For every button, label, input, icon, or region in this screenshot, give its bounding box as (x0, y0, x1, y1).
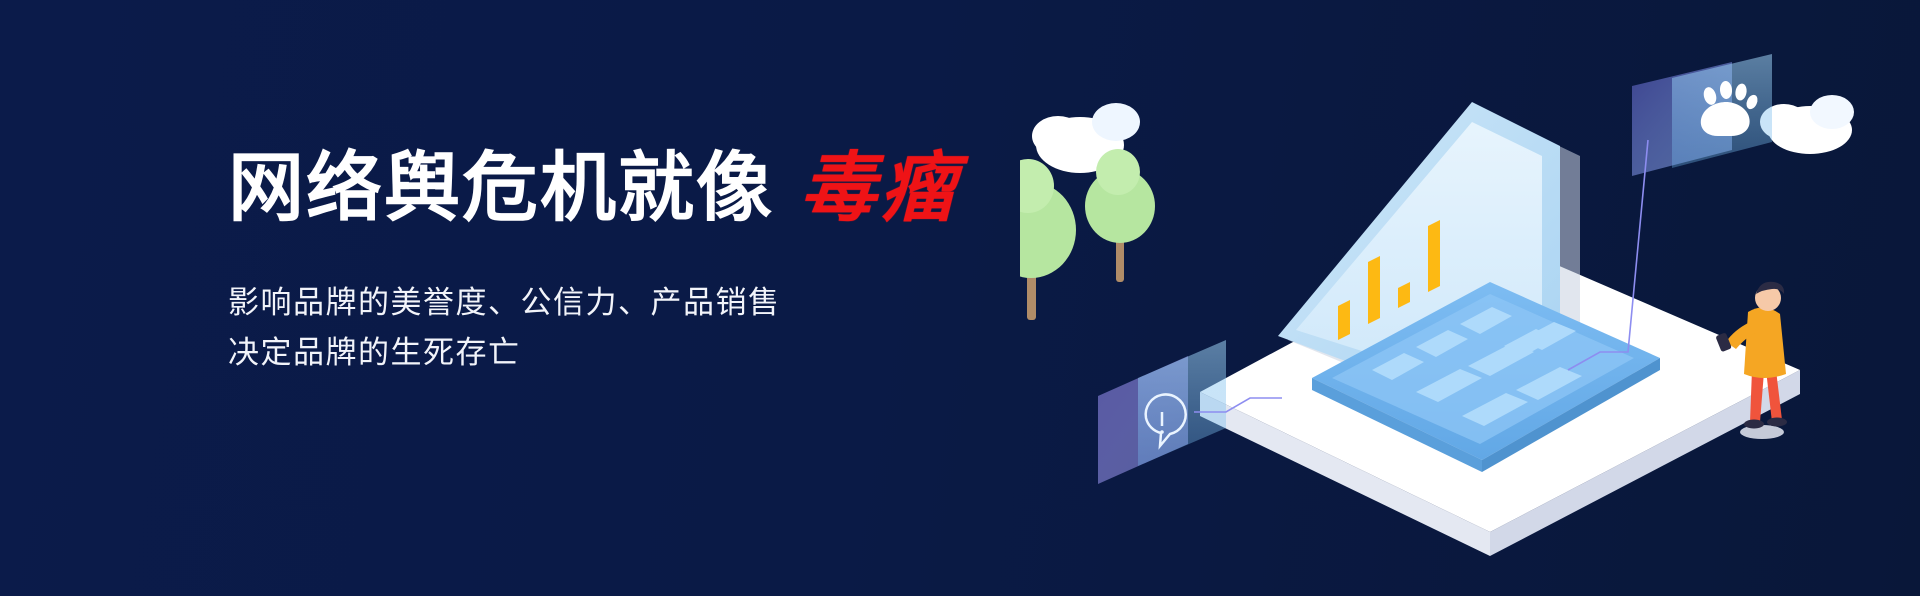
hero-illustration (1020, 40, 1900, 560)
cloud-icon-right (1760, 95, 1854, 154)
hero-banner: 网络舆危机就像毒瘤 影响品牌的美誉度、公信力、产品销售 决定品牌的生死存亡 (0, 0, 1920, 596)
page-title: 网络舆危机就像毒瘤 (228, 150, 1048, 226)
banner-copy: 网络舆危机就像毒瘤 影响品牌的美誉度、公信力、产品销售 决定品牌的生死存亡 (228, 150, 1048, 378)
headline-accent: 毒瘤 (800, 143, 960, 232)
headline-main: 网络舆危机就像 (228, 143, 774, 232)
tree-icon-left (1020, 159, 1076, 320)
subtitle-line-1: 影响品牌的美誉度、公信力、产品销售 (228, 278, 1048, 328)
banner-subtitle: 影响品牌的美誉度、公信力、产品销售 决定品牌的生死存亡 (228, 278, 1048, 378)
subtitle-line-2: 决定品牌的生死存亡 (228, 328, 1048, 378)
paw-panel (1632, 54, 1772, 176)
